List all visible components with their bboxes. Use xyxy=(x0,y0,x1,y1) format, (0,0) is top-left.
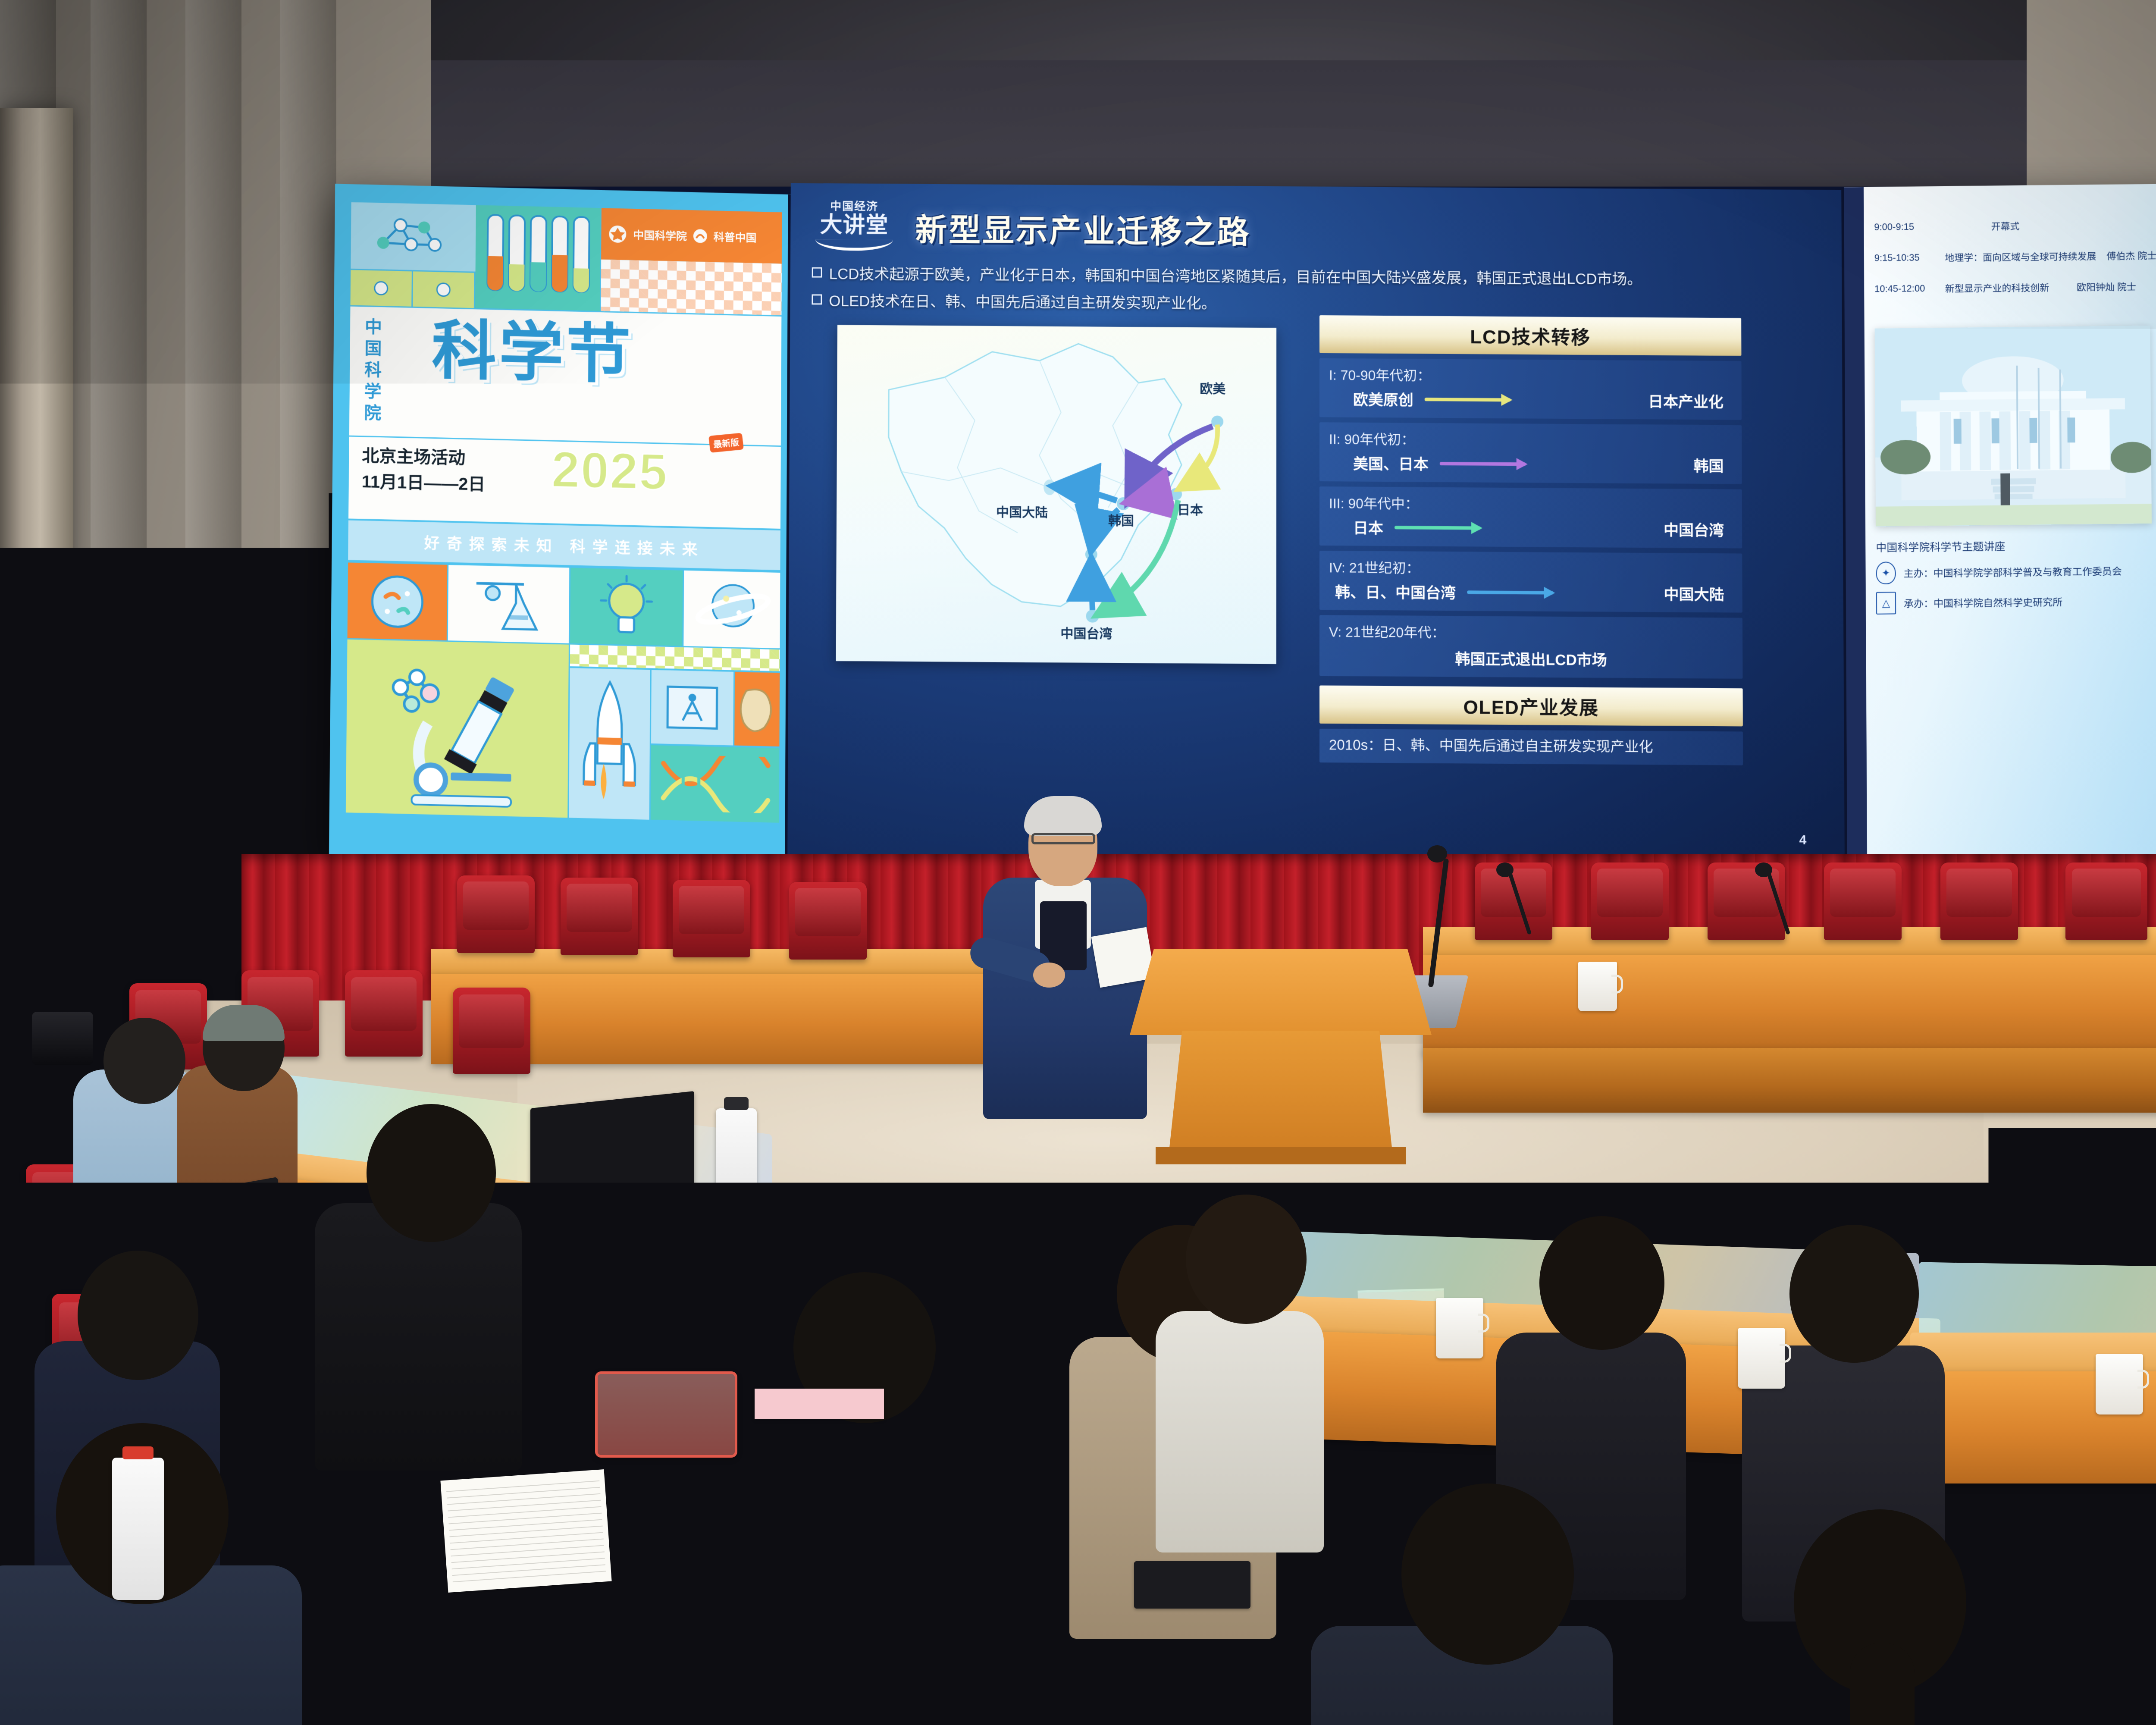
organizer-block: 中国科学院科学节主题讲座 ✦ 主办：中国科学院学部科学普及与教育工作委员会 △ … xyxy=(1876,536,2156,622)
presenter-hand xyxy=(1033,963,1065,988)
poster-year: 2025 xyxy=(551,444,668,498)
podium xyxy=(1130,914,1432,1156)
cas-building-photo xyxy=(1875,326,2152,527)
audience-head xyxy=(1539,1216,1664,1350)
microscope-icon xyxy=(346,640,569,818)
water-bottle xyxy=(112,1458,164,1600)
audience-head xyxy=(1186,1195,1307,1324)
schedule-topic: 新型显示产业的科技创新 xyxy=(1945,280,2067,295)
schedule-speaker xyxy=(2076,224,2153,225)
arrow-icon xyxy=(1425,398,1511,401)
lcd-row-from: 欧美原创 xyxy=(1353,388,1413,410)
audience-ponytail xyxy=(1850,1643,1915,1725)
lcd-row-era: II: 90年代初： xyxy=(1329,428,1732,451)
head-table-skirt xyxy=(1423,1048,2156,1113)
arrow-icon xyxy=(1395,526,1481,530)
stage-chair xyxy=(1708,862,1785,940)
poster-location-line: 北京主场活动 xyxy=(362,443,486,472)
slide-bullet-2-text: OLED技术在日、韩、中国先后通过自主研发实现产业化。 xyxy=(829,290,1216,315)
molecule-icon xyxy=(370,212,456,261)
stage-chair xyxy=(1591,862,1669,940)
slide-brand-swoosh xyxy=(815,239,893,251)
lcd-row-single: 韩国正式退出LCD市场 xyxy=(1329,644,1733,671)
lcd-table-row: III: 90年代中： 日本 中国台湾 xyxy=(1319,486,1742,548)
empty-seat xyxy=(345,970,423,1057)
presentation-slide: 中国经济 大讲堂 新型显示产业迁移之路 LCD技术起源于欧美，产业化于日本，韩国… xyxy=(787,183,1847,863)
schedule-topic: 开幕式 xyxy=(1945,218,2066,233)
audience-head xyxy=(367,1104,496,1242)
pencil-case xyxy=(595,1371,737,1458)
slide-brand-line1: 中国经济 xyxy=(811,201,897,213)
flask-icon xyxy=(448,565,569,643)
slide-bullet-2: OLED技术在日、韩、中国先后通过自主研发实现产业化。 xyxy=(812,290,1824,319)
poster-date-block: 北京主场活动 11月1日——2日 xyxy=(362,443,486,498)
slide-page-number: 4 xyxy=(1799,833,1807,847)
oled-table-row: 2010s：日、韩、中国先后通过自主研发实现产业化 xyxy=(1319,729,1743,765)
presenter-hair xyxy=(1024,796,1102,836)
test-tubes-icon xyxy=(475,205,601,311)
table-mic-head xyxy=(1755,862,1772,877)
slide-bullet-1-text: LCD技术起源于欧美，产业化于日本，韩国和中国台湾地区紧随其后，目前在中国大陆兴… xyxy=(829,263,1642,290)
migration-map: 欧美 日本 韩国 中国台湾 中国大陆 xyxy=(836,325,1277,664)
schedule-time: 9:15-10:35 xyxy=(1874,252,1935,263)
poster-logo-cas: 中国科学院 xyxy=(633,227,687,244)
lcd-table-row: V: 21世纪20年代： 韩国正式退出LCD市场 xyxy=(1319,615,1742,679)
bullet-square-icon xyxy=(812,267,822,278)
poster-festival-title: 科学节 xyxy=(432,318,633,387)
science-festival-poster: 中国科学院 科普中国 中国科学院 科学节 北京主场活动 11月1日——2日 20… xyxy=(329,184,791,867)
lcd-table-row: II: 90年代初： 美国、日本 韩国 xyxy=(1319,422,1742,484)
arrow-icon xyxy=(1440,461,1526,465)
schedule-table: 9:00-9:15 开幕式 9:15-10:35 地理学：面向区域与全球可持续发… xyxy=(1874,217,2154,313)
tea-cup xyxy=(1578,962,1617,1011)
empty-seat xyxy=(453,988,530,1074)
schedule-topic: 地理学：面向区域与全球可持续发展 xyxy=(1945,249,2096,264)
map-label-europe-america: 欧美 xyxy=(1200,378,1225,397)
stage-chair xyxy=(457,875,535,953)
stage-chair xyxy=(673,880,750,957)
audience-head xyxy=(1401,1483,1574,1665)
table-mic-head xyxy=(1496,862,1514,877)
poster-green-checker xyxy=(570,645,780,671)
organizer-label: 主办：中国科学院学部科学普及与教育工作委员会 xyxy=(1904,563,2122,580)
petri-dish-icon xyxy=(348,562,448,640)
podium-mic-head xyxy=(1427,845,1447,862)
stage-chair xyxy=(1824,862,1902,940)
lcd-row-from: 美国、日本 xyxy=(1353,452,1429,474)
map-label-japan: 日本 xyxy=(1177,499,1203,518)
notebook xyxy=(440,1469,611,1593)
poster-logo-partner: 科普中国 xyxy=(714,229,757,245)
poster-sponsor-bar: 中国科学院 科普中国 xyxy=(601,208,782,263)
lcd-row-era: I: 70-90年代初： xyxy=(1329,364,1732,387)
smartphone xyxy=(1134,1561,1250,1609)
schedule-row: 10:45-12:00 新型显示产业的科技创新 欧阳钟灿 院士 xyxy=(1874,279,2154,296)
slide-brand-line2: 大讲堂 xyxy=(811,213,897,238)
kepu-icon xyxy=(693,229,708,244)
poster-tagline: 好奇探索未知 科学连接未来 xyxy=(348,520,780,570)
map-label-mainland: 中国大陆 xyxy=(996,502,1048,521)
head-table-front xyxy=(1423,955,2156,1054)
audience-torso xyxy=(1156,1311,1324,1552)
oled-table-text: 2010s：日、韩、中国先后通过自主研发实现产业化 xyxy=(1329,735,1733,758)
poster-checker-strip xyxy=(601,260,782,315)
institute-seal-icon: △ xyxy=(1876,592,1896,615)
lcd-row-from: 日本 xyxy=(1353,516,1383,538)
tea-cup xyxy=(2096,1354,2143,1414)
blueprint-icon xyxy=(651,670,733,745)
lcd-row-to: 韩国 xyxy=(1693,454,1724,476)
lcd-row-to: 中国大陆 xyxy=(1664,582,1724,605)
audience-head xyxy=(78,1251,198,1380)
rocket-icon xyxy=(569,668,650,820)
lcd-table-header: LCD技术转移 xyxy=(1319,315,1741,356)
arrow-icon xyxy=(1467,590,1553,594)
poster-org-vertical: 中国科学院 xyxy=(361,317,381,425)
slide-bullets: LCD技术起源于欧美，产业化于日本，韩国和中国台湾地区紧随其后，目前在中国大陆兴… xyxy=(812,263,1825,324)
slide-bullet-1: LCD技术起源于欧美，产业化于日本，韩国和中国台湾地区紧随其后，目前在中国大陆兴… xyxy=(812,263,1825,292)
lcd-row-era: IV: 21世纪初： xyxy=(1329,557,1733,579)
planet-icon xyxy=(683,571,780,649)
slide-brand-logo: 中国经济 大讲堂 xyxy=(811,201,897,251)
schedule-row: 9:00-9:15 开幕式 xyxy=(1874,217,2153,234)
lecture-hall-scene: ⎫🚶 xyxy=(0,0,2156,1725)
fossil-icon xyxy=(734,672,780,746)
map-label-korea: 韩国 xyxy=(1108,510,1134,529)
notebook xyxy=(755,1389,884,1419)
lcd-row-from: 韩、日、中国台湾 xyxy=(1335,580,1456,603)
smartphone xyxy=(625,1225,690,1255)
led-video-wall: 中国科学院 科普中国 中国科学院 科学节 北京主场活动 11月1日——2日 20… xyxy=(329,187,2156,859)
stage-chair xyxy=(789,882,867,960)
poster-new-badge: 最新版 xyxy=(708,433,744,452)
stage-chair xyxy=(561,878,638,955)
schedule-time: 10:45-12:00 xyxy=(1874,283,1935,295)
lcd-row-to: 中国台湾 xyxy=(1664,518,1724,540)
lecture-series-title: 中国科学院科学节主题讲座 xyxy=(1876,536,2156,555)
co-organizer-line: △ 承办：中国科学院自然科学史研究所 xyxy=(1876,589,2156,614)
lcd-table-row: I: 70-90年代初： 欧美原创 日本产业化 xyxy=(1319,358,1742,420)
event-info-panel: 9:00-9:15 开幕式 9:15-10:35 地理学：面向区域与全球可持续发… xyxy=(1844,182,2156,860)
left-pillar xyxy=(0,108,73,1057)
audience-torso xyxy=(729,1393,970,1721)
oled-table-header: OLED产业发展 xyxy=(1319,686,1743,727)
schedule-speaker: 欧阳钟灿 院士 xyxy=(2077,279,2154,294)
stage-chair xyxy=(2065,862,2147,940)
schedule-time: 9:00-9:15 xyxy=(1874,221,1934,232)
schedule-row: 9:15-10:35 地理学：面向区域与全球可持续发展 傅伯杰 院士 xyxy=(1874,248,2154,265)
presenter-glasses-icon xyxy=(1031,833,1095,844)
tea-cup xyxy=(1436,1298,1483,1358)
lcd-table-row: IV: 21世纪初： 韩、日、中国台湾 中国大陆 xyxy=(1319,551,1742,613)
map-label-taiwan: 中国台湾 xyxy=(1060,623,1112,642)
poster-date-line: 11月1日——2日 xyxy=(362,469,486,498)
stage-chair xyxy=(1940,862,2018,940)
lcd-transfer-table: LCD技术转移 I: 70-90年代初： 欧美原创 日本产业化 II: 90年代… xyxy=(1319,315,1743,765)
audience-head xyxy=(103,1018,185,1104)
lightbulb-icon xyxy=(570,568,683,646)
co-organizer-label: 承办：中国科学院自然科学史研究所 xyxy=(1904,594,2062,610)
audience-torso xyxy=(315,1203,522,1471)
lcd-row-era: III: 90年代中： xyxy=(1329,492,1733,515)
tea-cup xyxy=(1738,1328,1785,1389)
panel-left-navy-band xyxy=(1844,187,1867,860)
organizer-line: ✦ 主办：中国科学院学部科学普及与教育工作委员会 xyxy=(1876,558,2156,584)
bullet-square-icon xyxy=(812,295,822,305)
dna-icon xyxy=(651,745,780,823)
schedule-speaker: 傅伯杰 院士 xyxy=(2106,248,2156,263)
stage-chair xyxy=(1475,862,1552,940)
lcd-row-to: 日本产业化 xyxy=(1648,390,1724,412)
slide-title: 新型显示产业迁移之路 xyxy=(915,204,1250,253)
audience-laptop xyxy=(530,1091,694,1216)
audience-head xyxy=(1789,1225,1919,1363)
cas-emblem-icon xyxy=(608,225,627,244)
water-bottle xyxy=(716,1108,757,1233)
lcd-row-era: V: 21世纪20年代： xyxy=(1329,621,1733,643)
cas-seal-icon: ✦ xyxy=(1876,561,1896,584)
